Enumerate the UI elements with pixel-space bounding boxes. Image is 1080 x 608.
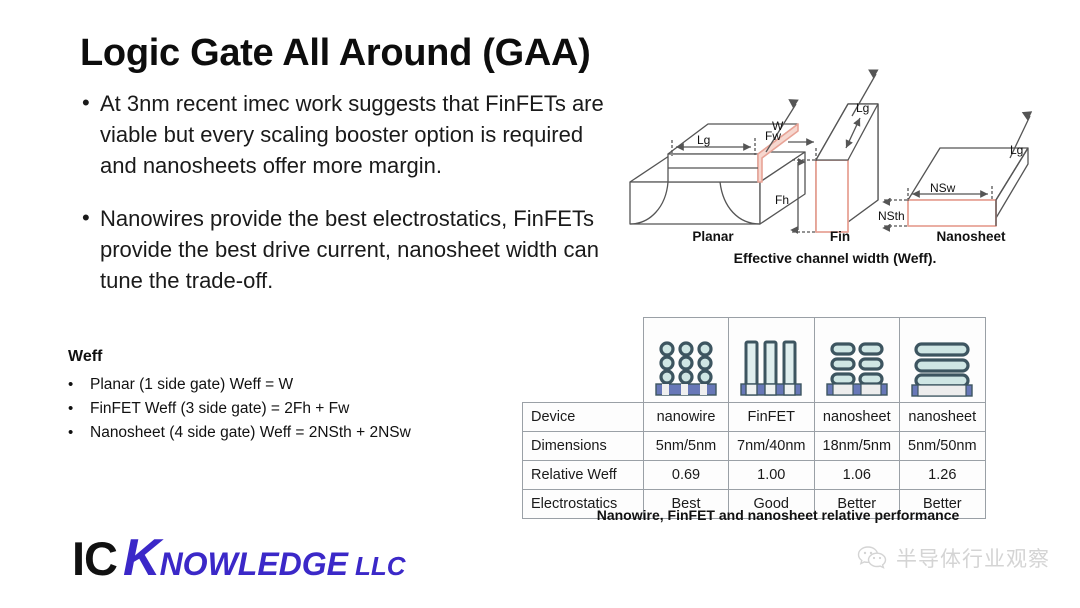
bullet-text: At 3nm recent imec work suggests that Fi… [100, 88, 612, 181]
bullet-item: • At 3nm recent imec work suggests that … [82, 88, 612, 181]
fin-fh-label: Fh [775, 193, 789, 207]
relative-performance-table: Device nanowire FinFET nanosheet nanoshe… [522, 317, 986, 519]
weff-list-item: • Planar (1 side gate) Weff = W [68, 373, 538, 397]
table-cell-icon-finfet [729, 318, 815, 403]
weff-item-label: Nanosheet (4 side gate) Weff = 2NSth + 2… [90, 421, 411, 445]
cell-weff-2: 1.06 [814, 460, 900, 489]
row-header-relative-weff: Relative Weff [523, 460, 644, 489]
table-cell-icon-nanosheet-wide [900, 318, 986, 403]
table-row-dimensions: Dimensions 5nm/5nm 7nm/40nm 18nm/5nm 5nm… [523, 431, 986, 460]
weff-marker: • [68, 397, 90, 421]
page-title: Logic Gate All Around (GAA) [80, 32, 591, 75]
cell-dimensions-0: 5nm/5nm [644, 431, 729, 460]
bullet-marker: • [82, 88, 100, 118]
table-cell-icon-nanowire [644, 318, 729, 403]
watermark-text: 半导体行业观察 [896, 543, 1050, 573]
bullet-text: Nanowires provide the best electrostatic… [100, 203, 612, 296]
wechat-icon [857, 545, 887, 571]
table-cell-icon-nanosheet-narrow [814, 318, 900, 403]
figure-label-nanosheet: Nanosheet [916, 229, 1026, 244]
ns-lg-label: Lg [1010, 143, 1023, 157]
weff-list-item: • FinFET Weff (3 side gate) = 2Fh + Fw [68, 397, 538, 421]
weff-marker: • [68, 373, 90, 397]
table-cell-empty [523, 318, 644, 403]
figure-label-fin: Fin [800, 229, 880, 244]
slide-canvas: Logic Gate All Around (GAA) • At 3nm rec… [0, 0, 1080, 608]
bullet-item: • Nanowires provide the best electrostat… [82, 203, 612, 296]
figure-caption: Effective channel width (Weff). [620, 250, 1050, 266]
nanosheet-structure [884, 116, 1030, 228]
ns-nsw-label: NSw [930, 181, 956, 195]
table-row-icons [523, 318, 986, 403]
ns-nsth-label: NSth [878, 209, 905, 223]
weff-item-label: FinFET Weff (3 side gate) = 2Fh + Fw [90, 397, 349, 421]
cell-device-3: nanosheet [900, 402, 986, 431]
ic-knowledge-logo: IC K NOWLEDGE LLC [72, 528, 406, 588]
table-caption: Nanowire, FinFET and nanosheet relative … [522, 507, 1034, 523]
logo-knowledge-text: NOWLEDGE [160, 546, 348, 583]
weff-heading: Weff [68, 348, 538, 366]
cell-device-2: nanosheet [814, 402, 900, 431]
planar-lg-label: Lg [697, 133, 710, 147]
cell-weff-3: 1.26 [900, 460, 986, 489]
fin-lg-label: Lg [856, 101, 869, 115]
cell-dimensions-2: 18nm/5nm [814, 431, 900, 460]
cell-dimensions-3: 5nm/50nm [900, 431, 986, 460]
table-row-device: Device nanowire FinFET nanosheet nanoshe… [523, 402, 986, 431]
nanowire-stack-icon [650, 332, 722, 402]
bullet-list: • At 3nm recent imec work suggests that … [82, 88, 612, 318]
nanosheet-wide-icon [906, 332, 978, 402]
weff-item-label: Planar (1 side gate) Weff = W [90, 373, 293, 397]
row-header-device: Device [523, 402, 644, 431]
cell-weff-1: 1.00 [729, 460, 815, 489]
weff-section: Weff • Planar (1 side gate) Weff = W • F… [68, 348, 538, 445]
bullet-marker: • [82, 203, 100, 233]
row-header-dimensions: Dimensions [523, 431, 644, 460]
cell-weff-0: 0.69 [644, 460, 729, 489]
table-row-relative-weff: Relative Weff 0.69 1.00 1.06 1.26 [523, 460, 986, 489]
logo-ic-text: IC [72, 531, 117, 586]
weff-list-item: • Nanosheet (4 side gate) Weff = 2NSth +… [68, 421, 538, 445]
cell-device-1: FinFET [729, 402, 815, 431]
wechat-watermark: 半导体行业观察 [857, 543, 1050, 573]
cell-dimensions-1: 7nm/40nm [729, 431, 815, 460]
effective-channel-width-figure: Lg W Fw Fh Lg NSw NSth Lg Planar Fin Nan… [620, 52, 1050, 277]
fin-fw-label: Fw [765, 129, 781, 143]
figure-label-planar: Planar [668, 229, 758, 244]
cell-device-0: nanowire [644, 402, 729, 431]
logo-k-text: K [123, 528, 160, 588]
nanosheet-narrow-icon [821, 332, 893, 402]
logo-llc-text: LLC [355, 551, 406, 582]
finfet-fins-icon [735, 332, 807, 402]
weff-marker: • [68, 421, 90, 445]
